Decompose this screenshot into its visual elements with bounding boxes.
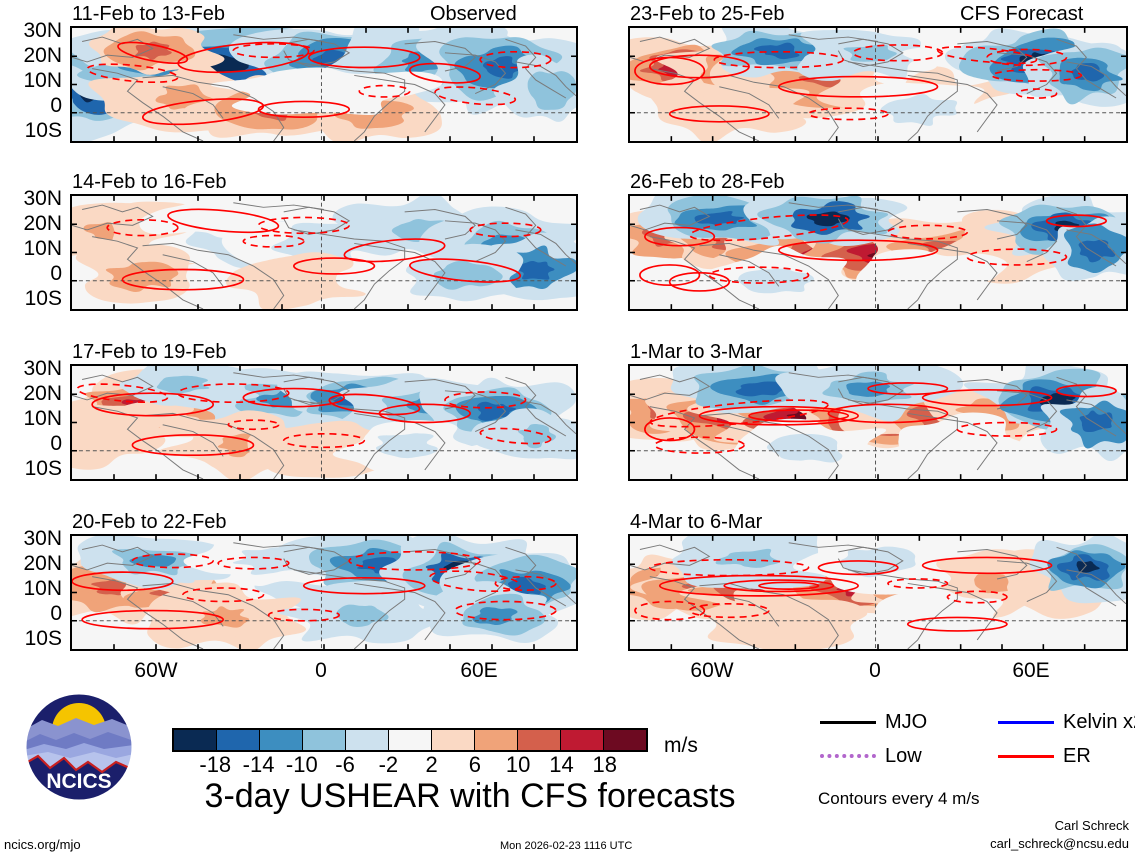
map-field-5 <box>630 28 1126 141</box>
y-tick-30n: 30N <box>23 188 62 209</box>
x-tick-60e: 60E <box>1012 660 1049 681</box>
colorbar-tick-18: 18 <box>592 752 616 778</box>
y-tick-0: 0 <box>50 433 62 454</box>
map-field-2 <box>72 196 576 309</box>
x-axis-labels-left: 60W 0 60E <box>70 660 578 686</box>
ncics-logo-label: NCICS <box>46 770 111 793</box>
panel-title-8: 4-Mar to 6-Mar <box>630 512 762 532</box>
legend-item-er: ER <box>998 746 1091 766</box>
x-tick-60w: 60W <box>134 660 177 681</box>
y-tick-0: 0 <box>50 95 62 116</box>
colorbar-tick--14: -14 <box>243 752 275 778</box>
y-tick-10s: 10S <box>25 458 62 479</box>
colorbar-segment-0 <box>174 730 217 750</box>
colorbar-tick--6: -6 <box>335 752 355 778</box>
kelvin-line-swatch <box>998 721 1054 724</box>
colorbar-tick--10: -10 <box>286 752 318 778</box>
colorbar-tick-6: 6 <box>469 752 481 778</box>
legend-label-low: Low <box>885 746 922 766</box>
legend-label-er: ER <box>1063 746 1091 766</box>
panel-title-6: 26-Feb to 28-Feb <box>630 172 785 192</box>
colorbar-segment-3 <box>303 730 346 750</box>
map-panel-4 <box>70 534 578 651</box>
x-tick-0: 0 <box>869 660 881 681</box>
map-panel-6 <box>628 194 1128 311</box>
y-tick-20n: 20N <box>23 213 62 234</box>
y-axis-labels-3: 30N 20N 10N 0 10S <box>0 358 62 482</box>
colorbar-segment-4 <box>346 730 389 750</box>
site-url[interactable]: ncics.org/mjo <box>4 838 81 852</box>
panel-title-5: 23-Feb to 25-Feb <box>630 4 785 24</box>
mjo-line-swatch <box>820 721 876 724</box>
x-tick-60w: 60W <box>690 660 733 681</box>
legend-label-mjo: MJO <box>885 712 927 732</box>
map-field-4 <box>72 536 576 649</box>
y-axis-labels-4: 30N 20N 10N 0 10S <box>0 528 62 652</box>
low-line-swatch <box>820 754 876 758</box>
colorbar-segment-5 <box>389 730 432 750</box>
y-tick-10n: 10N <box>23 408 62 429</box>
credit-author: Carl Schreck <box>1055 818 1129 833</box>
credit-email[interactable]: carl_schreck@ncsu.edu <box>990 836 1129 851</box>
y-tick-0: 0 <box>50 263 62 284</box>
y-tick-10s: 10S <box>25 628 62 649</box>
y-tick-10s: 10S <box>25 288 62 309</box>
y-tick-10s: 10S <box>25 120 62 141</box>
er-line-swatch <box>998 755 1054 758</box>
colorbar-segment-1 <box>217 730 260 750</box>
y-tick-0: 0 <box>50 603 62 624</box>
legend-item-mjo: MJO <box>820 712 927 732</box>
x-tick-0: 0 <box>315 660 327 681</box>
column-header-observed: Observed <box>430 4 517 24</box>
colorbar-tick--18: -18 <box>199 752 231 778</box>
map-panel-8 <box>628 534 1128 651</box>
column-header-forecast: CFS Forecast <box>960 4 1083 24</box>
panel-title-1: 11-Feb to 13-Feb <box>72 4 225 24</box>
x-tick-60e: 60E <box>460 660 497 681</box>
colorbar-segment-6 <box>432 730 475 750</box>
y-tick-20n: 20N <box>23 45 62 66</box>
colorbar-tick-10: 10 <box>506 752 530 778</box>
map-field-6 <box>630 196 1126 309</box>
map-panel-2 <box>70 194 578 311</box>
colorbar-segment-9 <box>561 730 604 750</box>
ncics-logo-graphic: NCICS <box>24 692 134 802</box>
colorbar <box>172 728 648 752</box>
map-field-1 <box>72 28 576 141</box>
colorbar-segment-10 <box>604 730 646 750</box>
panel-title-4: 20-Feb to 22-Feb <box>72 512 227 532</box>
y-tick-10n: 10N <box>23 70 62 91</box>
legend-item-low: Low <box>820 746 922 766</box>
y-tick-30n: 30N <box>23 20 62 41</box>
x-axis-labels-right: 60W 0 60E <box>628 660 1128 686</box>
colorbar-segment-2 <box>260 730 303 750</box>
map-field-7 <box>630 366 1126 479</box>
map-panel-7 <box>628 364 1128 481</box>
panel-title-7: 1-Mar to 3-Mar <box>630 342 762 362</box>
contour-legend: MJO Kelvin x2 Low ER <box>820 712 1120 774</box>
contour-interval-note: Contours every 4 m/s <box>818 790 980 808</box>
y-axis-labels-2: 30N 20N 10N 0 10S <box>0 188 62 312</box>
panel-title-2: 14-Feb to 16-Feb <box>72 172 227 192</box>
timestamp: Mon 2026-02-23 1116 UTC <box>500 840 632 852</box>
figure-main-title: 3-day USHEAR with CFS forecasts <box>150 778 790 814</box>
colorbar-segment-7 <box>475 730 518 750</box>
y-tick-10n: 10N <box>23 238 62 259</box>
y-axis-labels-1: 30N 20N 10N 0 10S <box>0 20 62 144</box>
map-field-8 <box>630 536 1126 649</box>
y-tick-10n: 10N <box>23 578 62 599</box>
colorbar-tick--2: -2 <box>379 752 399 778</box>
map-field-3 <box>72 366 576 479</box>
colorbar-tick-labels: -18-14-10-6-226101418 <box>172 752 648 780</box>
colorbar-tick-2: 2 <box>426 752 438 778</box>
y-tick-30n: 30N <box>23 528 62 549</box>
map-panel-5 <box>628 26 1128 143</box>
legend-label-kelvin: Kelvin x2 <box>1063 712 1135 732</box>
panel-title-3: 17-Feb to 19-Feb <box>72 342 227 362</box>
ncics-logo: NCICS <box>24 692 134 802</box>
y-tick-20n: 20N <box>23 553 62 574</box>
colorbar-segment-8 <box>518 730 561 750</box>
legend-item-kelvin: Kelvin x2 <box>998 712 1135 732</box>
colorbar-unit-label: m/s <box>664 735 698 756</box>
map-panel-1 <box>70 26 578 143</box>
map-panel-3 <box>70 364 578 481</box>
y-tick-20n: 20N <box>23 383 62 404</box>
y-tick-30n: 30N <box>23 358 62 379</box>
colorbar-tick-14: 14 <box>549 752 573 778</box>
